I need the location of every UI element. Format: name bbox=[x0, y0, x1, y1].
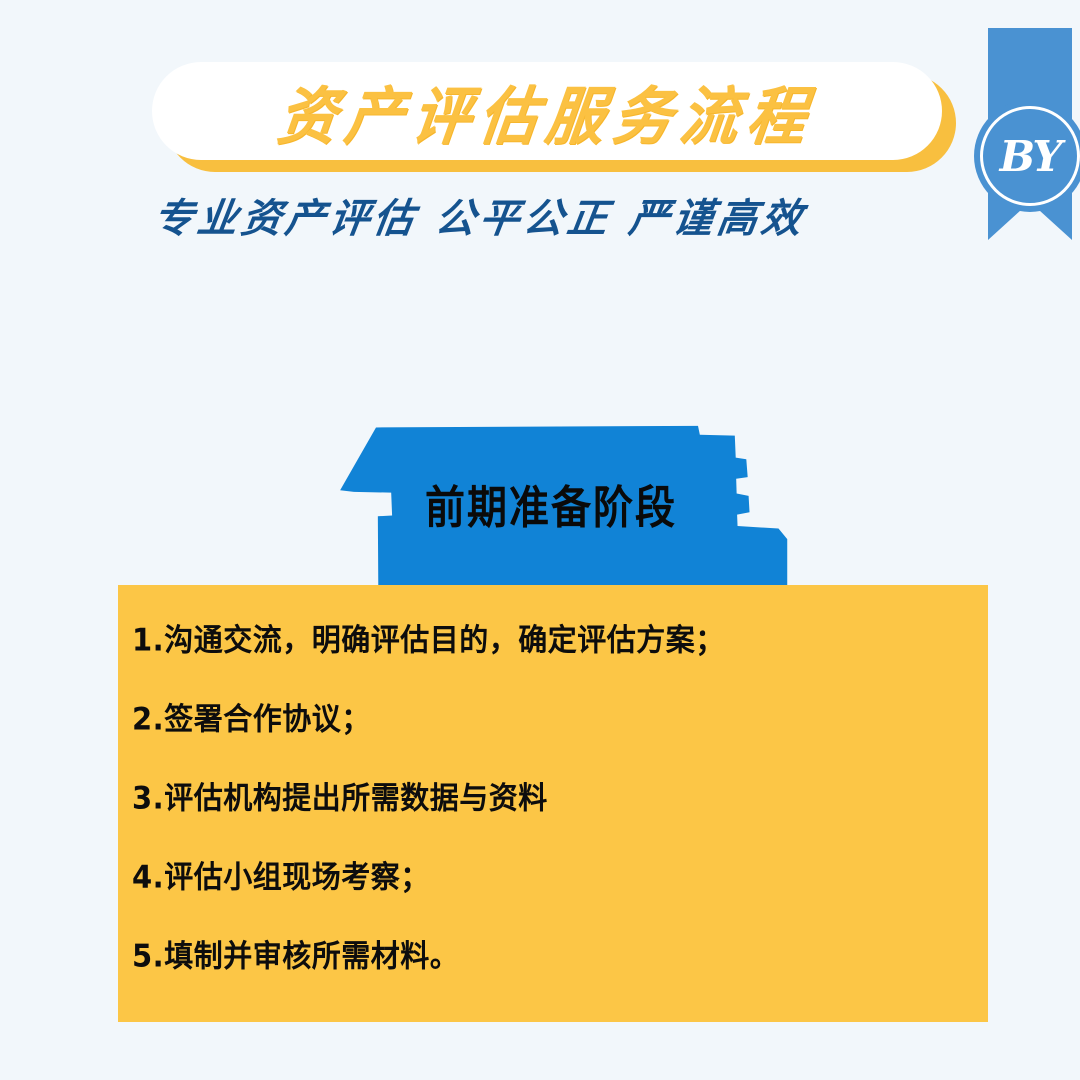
title-pill: 资产评估服务流程 bbox=[152, 62, 942, 160]
list-item: 2.签署合作协议； bbox=[132, 703, 954, 737]
list-item: 1.沟通交流，明确评估目的，确定评估方案； bbox=[132, 624, 954, 658]
list-item: 3.评估机构提出所需数据与资料 bbox=[132, 782, 954, 816]
ribbon-badge: BY bbox=[988, 28, 1072, 240]
list-item: 4.评估小组现场考察； bbox=[132, 861, 954, 895]
page-subtitle: 专业资产评估 公平公正 严谨高效 bbox=[0, 186, 964, 244]
stage-banner: 前期准备阶段 bbox=[330, 425, 790, 588]
content-panel: 1.沟通交流，明确评估目的，确定评估方案； 2.签署合作协议； 3.评估机构提出… bbox=[118, 585, 988, 1022]
stage-title: 前期准备阶段 bbox=[425, 471, 677, 536]
list-item: 5.填制并审核所需材料。 bbox=[132, 940, 954, 974]
header-title-area: 资产评估服务流程 bbox=[0, 0, 1080, 185]
badge-initials: BY bbox=[1000, 132, 1061, 181]
badge-circle: BY bbox=[974, 100, 1080, 212]
page-title: 资产评估服务流程 bbox=[273, 66, 820, 157]
stage-banner-label-wrap: 前期准备阶段 bbox=[330, 425, 790, 588]
